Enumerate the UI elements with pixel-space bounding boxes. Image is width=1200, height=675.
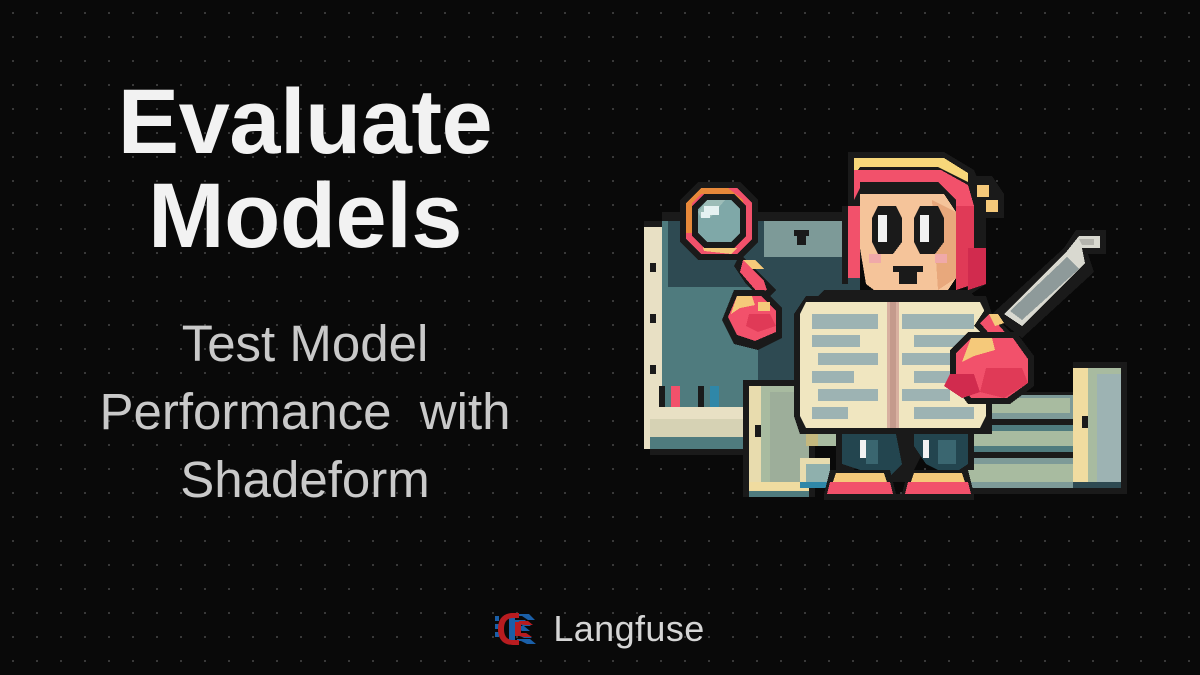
brand-footer: Langfuse [0,601,1200,657]
page-subtitle: Test Model Performance with Shadeform [90,310,520,513]
text-column: Evaluate Models Test Model Performance w… [0,0,600,590]
character-head [842,152,1004,302]
og-card: Evaluate Models Test Model Performance w… [0,0,1200,675]
langfuse-logo-icon [495,612,537,646]
pixel-art-illustration [608,128,1136,524]
page-title: Evaluate Models [118,76,492,264]
brand-name: Langfuse [553,611,704,647]
